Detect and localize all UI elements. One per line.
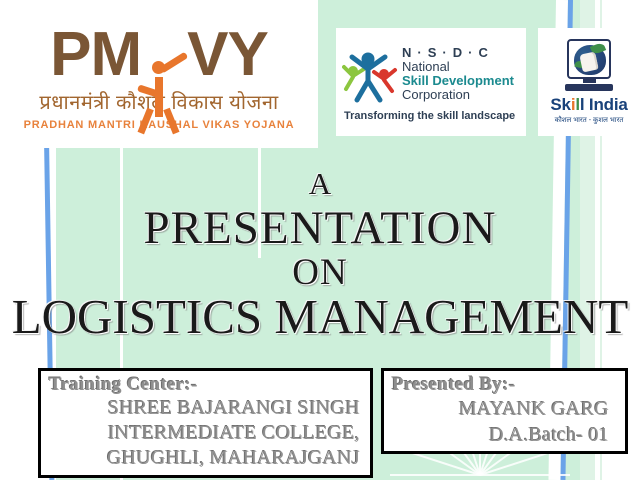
skill-india-text-part1: Sk (550, 95, 570, 114)
nsdc-line-skill-development: Skill Development (402, 74, 514, 88)
slide-title-block: A PRESENTATION ON LOGISTICS MANAGEMENT (0, 168, 640, 341)
presented-by-line: MAYANK GARG (384, 396, 625, 422)
training-center-heading: Training Center:- (41, 371, 370, 396)
pmkvy-english-text: PRADHAN MANTRI KAUSHAL VIKAS YOJANA (24, 119, 295, 131)
presentation-slide: PMVY प्रधानमंत्री कौशल विकास योजना PRADH… (0, 0, 640, 480)
presented-by-line: D.A.Batch- 01 (384, 422, 625, 448)
pmkvy-vy-text: VY (187, 20, 268, 89)
monitor-icon (567, 39, 611, 79)
monitor-stand-icon (583, 79, 596, 83)
keyboard-icon (565, 84, 613, 91)
skill-india-logo: Skill India कौशल भारत - कुशल भारत (538, 28, 640, 136)
nsdc-line-national: National (402, 60, 514, 74)
title-line-1: A (0, 168, 640, 199)
presented-by-box: Presented By:- MAYANK GARG D.A.Batch- 01 (381, 368, 628, 454)
skill-india-wordmark: Skill India (550, 95, 627, 115)
logo-row: PMVY प्रधानमंत्री कौशल विकास योजना PRADH… (0, 0, 640, 148)
skill-india-hindi-subtitle: कौशल भारत - कुशल भारत (555, 116, 624, 125)
training-center-line: SHREE BAJARANGI SINGH (41, 396, 370, 421)
training-center-line: INTERMEDIATE COLLEGE, (41, 421, 370, 446)
title-line-4: LOGISTICS MANAGEMENT (0, 292, 640, 341)
pmkvy-logo: PMVY प्रधानमंत्री कौशल विकास योजना PRADH… (0, 0, 318, 148)
nsdc-tagline: Transforming the skill landscape (344, 110, 515, 122)
title-line-3: ON (0, 254, 640, 291)
nsdc-text-group: N · S · D · C National Skill Development… (402, 46, 514, 102)
nsdc-three-people-icon (342, 45, 398, 103)
nsdc-logo-top: N · S · D · C National Skill Development… (342, 45, 514, 103)
presented-by-heading: Presented By:- (384, 371, 625, 396)
nsdc-line-corporation: Corporation (402, 88, 514, 102)
title-line-2: PRESENTATION (0, 205, 640, 252)
nsdc-acronym: N · S · D · C (402, 46, 514, 60)
training-center-line: GHUGHLI, MAHARAJGANJ (41, 446, 370, 471)
nsdc-logo: N · S · D · C National Skill Development… (336, 28, 526, 136)
training-center-box: Training Center:- SHREE BAJARANGI SINGH … (38, 368, 373, 478)
pmkvy-wordmark: PMVY (50, 24, 268, 86)
skill-india-text-part2: l India (580, 95, 628, 114)
pmkvy-pm-text: PM (50, 20, 141, 89)
